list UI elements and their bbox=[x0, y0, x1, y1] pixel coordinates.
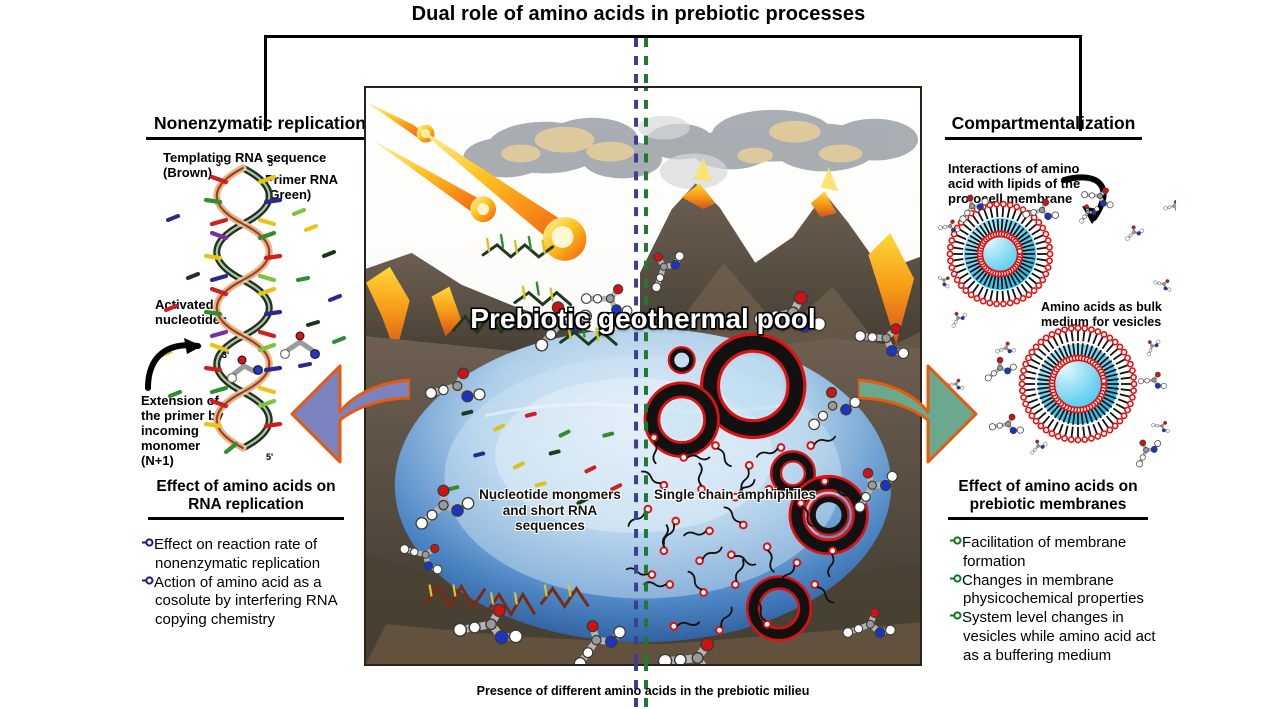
list-item-label: Action of amino acid as a cosolute by in… bbox=[154, 574, 337, 629]
figure-footer-note: Presence of different amino acids in the… bbox=[364, 684, 922, 698]
bullet-dot-icon bbox=[950, 610, 962, 621]
list-item-label: Changes in membrane physicochemical prop… bbox=[962, 572, 1144, 608]
effect-heading-prebiotic-membranes: Effect of amino acids on prebiotic membr… bbox=[948, 478, 1148, 520]
svg-text:3': 3' bbox=[216, 160, 223, 168]
svg-text:5': 5' bbox=[266, 452, 273, 462]
arrow-to-left-panel bbox=[288, 352, 410, 468]
effect-heading-rna-replication: Effect of amino acids on RNA replication bbox=[148, 478, 344, 520]
figure-canvas: Dual role of amino acids in prebiotic pr… bbox=[0, 0, 1277, 709]
section-heading-nonenzymatic-replication: Nonenzymatic replication bbox=[146, 113, 374, 140]
prebiotic-pool-illustration bbox=[364, 86, 922, 666]
arrow-to-right-panel bbox=[858, 352, 980, 468]
list-item: Facilitation of membrane formation bbox=[950, 534, 1160, 572]
divider-top bbox=[630, 38, 650, 90]
bullet-list-prebiotic-membranes: Facilitation of membrane formation Chang… bbox=[950, 534, 1160, 665]
extension-curved-arrow-icon bbox=[140, 330, 220, 400]
list-item: Effect on reaction rate of nonenzymatic … bbox=[142, 536, 354, 574]
list-item-label: Effect on reaction rate of nonenzymatic … bbox=[154, 536, 320, 572]
bullet-list-rna-replication: Effect on reaction rate of nonenzymatic … bbox=[142, 536, 354, 630]
list-item-label: System level changes in vesicles while a… bbox=[962, 609, 1156, 664]
list-item: Action of amino acid as a cosolute by in… bbox=[142, 574, 354, 630]
bullet-dot-icon bbox=[950, 573, 962, 584]
scene-label-nucleotides: Nucleotide monomers and short RNA sequen… bbox=[470, 487, 630, 534]
bullet-dot-icon bbox=[142, 575, 154, 586]
bullet-dot-icon bbox=[142, 537, 154, 548]
bullet-dot-icon bbox=[950, 535, 962, 546]
scene-label-amphiphiles: Single chain amphiphiles bbox=[650, 487, 820, 503]
section-heading-compartmentalization: Compartmentalization bbox=[945, 113, 1142, 140]
list-item: System level changes in vesicles while a… bbox=[950, 609, 1160, 665]
page-title: Dual role of amino acids in prebiotic pr… bbox=[0, 3, 1277, 26]
list-item-label: Facilitation of membrane formation bbox=[962, 534, 1126, 570]
list-item: Changes in membrane physicochemical prop… bbox=[950, 572, 1160, 610]
scene-title: Prebiotic geothermal pool bbox=[364, 303, 922, 335]
svg-text:3': 3' bbox=[222, 350, 229, 360]
svg-text:5': 5' bbox=[268, 160, 275, 168]
